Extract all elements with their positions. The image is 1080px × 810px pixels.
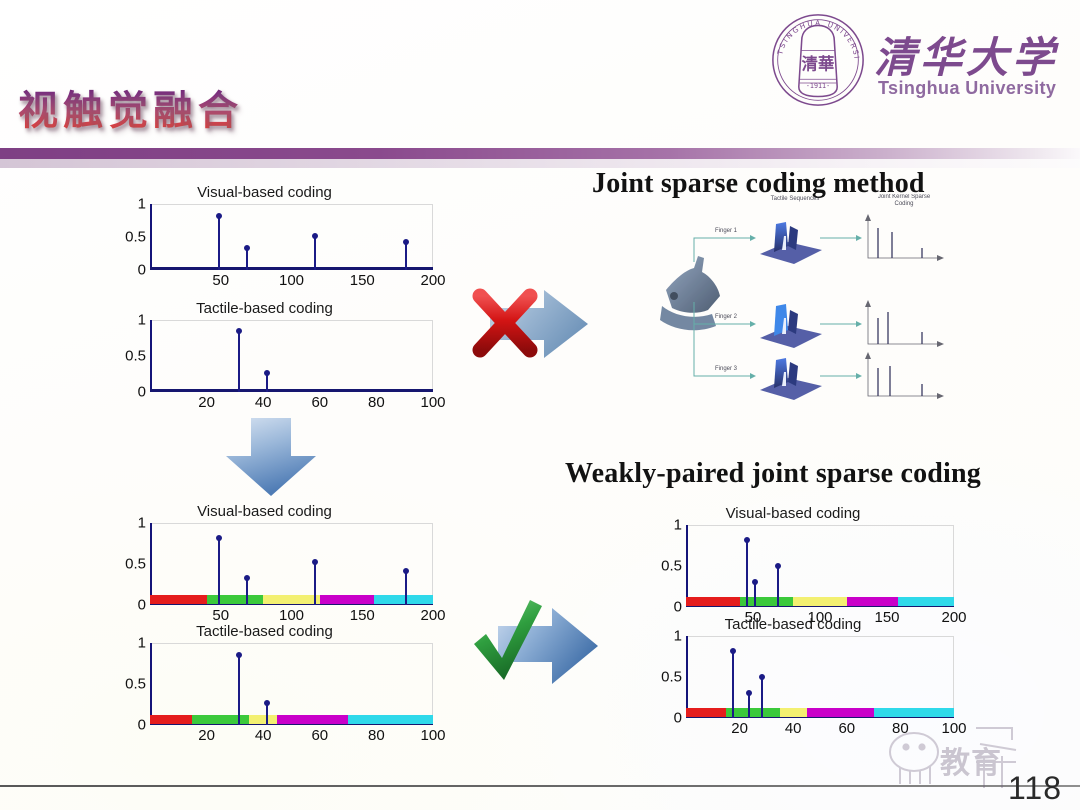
y-axis-line [150, 320, 152, 392]
x-tick-label: 200 [941, 609, 966, 626]
y-tick-label: 0.5 [661, 669, 682, 686]
diagram-label-finger-3: Finger 3 [706, 366, 746, 373]
stem-marker [748, 693, 750, 718]
segment [898, 597, 954, 606]
stem-marker [238, 655, 240, 725]
axes-frame [150, 523, 433, 605]
plot-axes: 00.5150100150200 [150, 523, 433, 605]
y-tick-label: 0.5 [125, 556, 146, 573]
blue-right-arrow-icon [468, 280, 598, 368]
segment [847, 597, 898, 606]
segment [150, 715, 192, 724]
x-tick-label: 100 [420, 394, 445, 411]
stem-marker [218, 216, 220, 270]
segment-color-bar [150, 715, 433, 724]
x-tick-label: 100 [279, 607, 304, 624]
joint-diagram-svg [660, 198, 960, 418]
x-tick-label: 60 [311, 727, 328, 744]
down-arrow-group [216, 414, 326, 500]
y-tick-label: 0 [138, 384, 146, 401]
joint-sparse-coding-diagram: Tactile Sequences Joint Kernel Sparse Co… [660, 198, 960, 418]
blue-right-arrow-icon-2 [468, 600, 608, 692]
stem-marker [732, 651, 734, 718]
tactile-surface-plots [760, 222, 822, 400]
diagram-label-finger-2: Finger 2 [706, 314, 746, 321]
y-tick-label: 0.5 [125, 348, 146, 365]
sparse-coding-mini-plots [865, 214, 944, 399]
heading-weakly-paired-joint-sparse-coding: Weakly-paired joint sparse coding [565, 458, 981, 490]
y-tick-label: 0 [674, 599, 682, 616]
y-axis-line [150, 643, 152, 725]
blue-down-arrow-icon [216, 414, 326, 500]
plot-title: Visual-based coding [648, 505, 938, 522]
plot-title: Visual-based coding [112, 503, 417, 520]
axes-frame [150, 320, 433, 392]
tsinghua-logo: 清華 -1911- TSINGHUA UNIVERSITY 清华大学 Tsing… [770, 12, 1062, 112]
stem-marker [246, 578, 248, 605]
plot-title: Visual-based coding [112, 184, 417, 201]
x-axis-line [150, 389, 433, 392]
x-tick-label: 50 [212, 272, 229, 289]
x-tick-label: 150 [350, 272, 375, 289]
plot-title: Tactile-based coding [112, 623, 417, 640]
plot-axes: 00.5120406080100 [150, 320, 433, 392]
y-tick-label: 1 [674, 628, 682, 645]
x-tick-label: 100 [420, 727, 445, 744]
x-tick-label: 80 [368, 727, 385, 744]
svg-text:清華: 清華 [802, 55, 835, 74]
stem-marker [314, 562, 316, 605]
plot-title: Tactile-based coding [112, 300, 417, 317]
stem-marker [314, 236, 316, 270]
diagram-label-tactile-sequences: Tactile Sequences [758, 196, 832, 203]
segment [192, 715, 249, 724]
axes-frame [150, 204, 433, 270]
segment [780, 708, 807, 717]
stem-marker [246, 248, 248, 270]
stem-marker [238, 331, 240, 392]
segment-color-bar [150, 595, 433, 604]
y-tick-label: 0 [138, 717, 146, 734]
divider-main-bar [0, 148, 1080, 159]
y-axis-line [150, 523, 152, 605]
segment [374, 595, 433, 604]
stem-marker [405, 242, 407, 270]
x-tick-label: 20 [198, 727, 215, 744]
plot-title: Tactile-based coding [648, 616, 938, 633]
axes-frame [150, 643, 433, 725]
segment [320, 595, 374, 604]
diagram-label-finger-1: Finger 1 [706, 228, 746, 235]
x-axis-line [150, 267, 433, 270]
footer-rule [0, 785, 1080, 787]
x-tick-label: 100 [279, 272, 304, 289]
segment [726, 708, 780, 717]
segment-color-bar [686, 597, 954, 606]
diagram-label-joint-kernel-sparse-coding: Joint Kernel Sparse Coding [866, 194, 942, 208]
plot-axes: 00.5120406080100 [686, 636, 954, 718]
x-tick-label: 80 [368, 394, 385, 411]
logo-name-en: Tsinghua University [878, 78, 1056, 99]
x-tick-label: 40 [255, 727, 272, 744]
page-number: 118 [1008, 770, 1062, 807]
segment [150, 595, 207, 604]
x-tick-label: 60 [311, 394, 328, 411]
x-tick-label: 80 [892, 720, 909, 737]
stem-marker [761, 677, 763, 718]
divider-sub-bar [0, 159, 1080, 168]
y-tick-label: 1 [138, 312, 146, 329]
segment [207, 595, 264, 604]
slide-canvas: 视触觉融合 清華 -1911- TSINGHUA UNIVERSITY 清华大学… [0, 0, 1080, 810]
y-axis-line [686, 525, 688, 607]
svg-text:-1911-: -1911- [806, 82, 830, 90]
stem-marker [266, 373, 268, 392]
stem-marker [746, 540, 748, 607]
x-tick-label: 200 [420, 272, 445, 289]
x-tick-label: 60 [838, 720, 855, 737]
y-tick-label: 1 [138, 515, 146, 532]
svg-text:TSINGHUA: TSINGHUA [775, 18, 822, 56]
plot-axes: 00.5150100150200 [686, 525, 954, 607]
axes-frame [686, 636, 954, 718]
y-tick-label: 0.5 [125, 229, 146, 246]
y-tick-label: 0.5 [661, 558, 682, 575]
segment [249, 715, 277, 724]
plot-axes: 00.5120406080100 [150, 643, 433, 725]
x-tick-label: 100 [941, 720, 966, 737]
watermark-text: 教育 [940, 738, 1002, 782]
segment [793, 597, 847, 606]
y-tick-label: 0 [138, 597, 146, 614]
tsinghua-seal-icon: 清華 -1911- TSINGHUA UNIVERSITY [770, 12, 866, 108]
x-tick-label: 150 [350, 607, 375, 624]
x-tick-label: 40 [785, 720, 802, 737]
y-tick-label: 0 [674, 710, 682, 727]
segment [277, 715, 348, 724]
x-tick-label: 50 [212, 607, 229, 624]
x-tick-label: 200 [420, 607, 445, 624]
segment [874, 708, 954, 717]
header-divider [0, 148, 1080, 170]
logo-name-cn: 清华大学 [874, 24, 1058, 85]
y-tick-label: 1 [138, 635, 146, 652]
stem-marker [405, 571, 407, 605]
x-tick-label: 20 [198, 394, 215, 411]
accept-arrow-group [468, 600, 608, 692]
segment [263, 595, 320, 604]
plot-axes: 00.5150100150200 [150, 204, 433, 270]
stem-marker [777, 566, 779, 607]
y-tick-label: 1 [138, 196, 146, 213]
reject-arrow-group [468, 280, 598, 368]
y-tick-label: 0.5 [125, 676, 146, 693]
stem-marker [266, 703, 268, 725]
segment [807, 708, 874, 717]
y-tick-label: 1 [674, 517, 682, 534]
x-tick-label: 40 [255, 394, 272, 411]
y-axis-line [686, 636, 688, 718]
segment [686, 597, 740, 606]
page-title: 视触觉融合 [18, 78, 243, 136]
y-tick-label: 0 [138, 262, 146, 279]
axes-frame [686, 525, 954, 607]
y-axis-line [150, 204, 152, 270]
segment-color-bar [686, 708, 954, 717]
x-tick-label: 20 [731, 720, 748, 737]
segment [348, 715, 433, 724]
segment [686, 708, 726, 717]
stem-marker [218, 538, 220, 605]
stem-marker [754, 582, 756, 607]
